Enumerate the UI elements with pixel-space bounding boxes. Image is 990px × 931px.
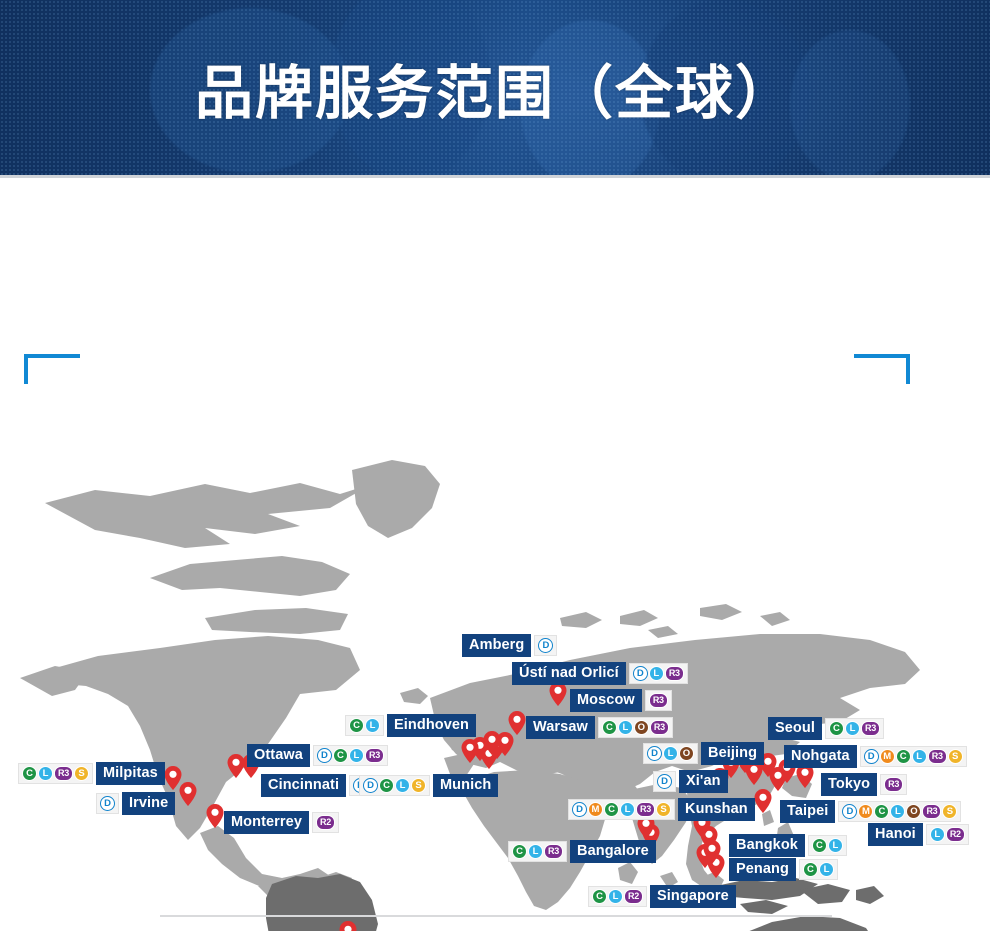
service-badge-l-icon: L bbox=[395, 778, 410, 793]
city-name: Penang bbox=[729, 858, 796, 881]
service-badge-o-icon: O bbox=[679, 746, 694, 761]
city-label-singapore[interactable]: CLR2Singapore bbox=[588, 885, 736, 908]
service-badge-group: DMCLOR3S bbox=[838, 801, 961, 822]
service-badge-group: R3 bbox=[645, 690, 672, 711]
service-badge-r3-icon: R3 bbox=[649, 693, 668, 708]
map-pin-marker[interactable] bbox=[704, 840, 721, 864]
bracket-line-horizontal bbox=[854, 354, 910, 358]
service-badge-l-icon: L bbox=[38, 766, 53, 781]
service-badge-c-icon: C bbox=[592, 889, 607, 904]
city-label-taipei[interactable]: TaipeiDMCLOR3S bbox=[780, 800, 961, 823]
service-badge-r3-icon: R3 bbox=[54, 766, 73, 781]
service-badge-group: R3 bbox=[880, 774, 907, 795]
service-badge-d-icon: D bbox=[657, 774, 672, 789]
service-badge-l-icon: L bbox=[912, 749, 927, 764]
city-label-hanoi[interactable]: HanoiLR2 bbox=[868, 823, 969, 846]
city-name: Seoul bbox=[768, 717, 822, 740]
service-badge-c-icon: C bbox=[829, 721, 844, 736]
map-stage: CLR3SMilpitasDIrvineMonterreyR2OttawaDCL… bbox=[0, 178, 990, 931]
service-badge-s-icon: S bbox=[656, 802, 671, 817]
city-label-munich[interactable]: DCLSMunich bbox=[359, 774, 498, 797]
service-badge-group: LR2 bbox=[926, 824, 969, 845]
city-name: Xi'an bbox=[679, 770, 728, 793]
map-pin-monterrey[interactable] bbox=[207, 804, 224, 828]
service-badge-c-icon: C bbox=[22, 766, 37, 781]
map-pin-warsaw[interactable] bbox=[509, 711, 526, 735]
city-label--st-nad-orlic-[interactable]: Ústí nad OrlicíDLR3 bbox=[512, 662, 688, 685]
map-pin-moscow[interactable] bbox=[550, 682, 567, 706]
bottom-divider bbox=[160, 915, 832, 917]
map-pin-marker[interactable] bbox=[462, 739, 479, 763]
city-label-seoul[interactable]: SeoulCLR3 bbox=[768, 717, 884, 740]
service-badge-l-icon: L bbox=[620, 802, 635, 817]
city-name: Kunshan bbox=[678, 798, 755, 821]
service-badge-c-icon: C bbox=[512, 844, 527, 859]
city-name: Eindhoven bbox=[387, 714, 476, 737]
city-name: Amberg bbox=[462, 634, 531, 657]
service-badge-s-icon: S bbox=[411, 778, 426, 793]
service-badge-group: R2 bbox=[312, 812, 339, 833]
city-name: Beijing bbox=[701, 742, 764, 765]
service-badge-c-icon: C bbox=[803, 862, 818, 877]
city-name: Hanoi bbox=[868, 823, 923, 846]
city-label-penang[interactable]: PenangCL bbox=[729, 858, 838, 881]
city-label-eindhoven[interactable]: CLEindhoven bbox=[345, 714, 476, 737]
bracket-line-vertical bbox=[24, 354, 28, 384]
service-badge-r2-icon: R2 bbox=[624, 889, 643, 904]
service-badge-l-icon: L bbox=[828, 838, 843, 853]
service-badge-l-icon: L bbox=[845, 721, 860, 736]
service-badge-d-icon: D bbox=[842, 804, 857, 819]
service-badge-group: DLR3 bbox=[629, 663, 688, 684]
service-badge-s-icon: S bbox=[948, 749, 963, 764]
city-label-amberg[interactable]: AmbergD bbox=[462, 634, 557, 657]
service-badge-l-icon: L bbox=[819, 862, 834, 877]
service-badge-group: D bbox=[653, 771, 676, 792]
service-badge-group: CLR2 bbox=[588, 886, 647, 907]
service-badge-o-icon: O bbox=[906, 804, 921, 819]
service-badge-d-icon: D bbox=[363, 778, 378, 793]
service-badge-l-icon: L bbox=[365, 718, 380, 733]
service-badge-d-icon: D bbox=[538, 638, 553, 653]
service-badge-l-icon: L bbox=[608, 889, 623, 904]
city-name: Bangkok bbox=[729, 834, 805, 857]
map-pin-marker[interactable] bbox=[770, 767, 787, 791]
service-badge-r3-icon: R3 bbox=[884, 777, 903, 792]
service-badge-group: CLR3 bbox=[508, 841, 567, 862]
city-label-tokyo[interactable]: TokyoR3 bbox=[821, 773, 907, 796]
city-label-irvine[interactable]: DIrvine bbox=[96, 792, 175, 815]
service-badge-m-icon: M bbox=[588, 802, 603, 817]
service-badge-group: DLO bbox=[643, 743, 698, 764]
service-badge-s-icon: S bbox=[942, 804, 957, 819]
city-name: Tokyo bbox=[821, 773, 877, 796]
city-label-xi-an[interactable]: DXi'an bbox=[653, 770, 728, 793]
service-badge-l-icon: L bbox=[528, 844, 543, 859]
service-badge-r2-icon: R2 bbox=[316, 815, 335, 830]
service-badge-l-icon: L bbox=[618, 720, 633, 735]
city-name: Nohgata bbox=[784, 745, 857, 768]
service-badge-r3-icon: R3 bbox=[922, 804, 941, 819]
service-badge-group: CLOR3 bbox=[598, 717, 673, 738]
service-badge-c-icon: C bbox=[874, 804, 889, 819]
city-name: Ottawa bbox=[247, 744, 310, 767]
city-name: Singapore bbox=[650, 885, 736, 908]
service-badge-group: DCLR3 bbox=[313, 745, 388, 766]
city-name: Warsaw bbox=[526, 716, 595, 739]
city-name: Milpitas bbox=[96, 762, 165, 785]
service-badge-l-icon: L bbox=[890, 804, 905, 819]
service-badge-o-icon: O bbox=[634, 720, 649, 735]
service-badge-r2-icon: R2 bbox=[946, 827, 965, 842]
service-badge-l-icon: L bbox=[349, 748, 364, 763]
map-pin-marker[interactable] bbox=[484, 731, 501, 755]
service-badge-r3-icon: R3 bbox=[365, 748, 384, 763]
service-badge-c-icon: C bbox=[896, 749, 911, 764]
service-badge-r3-icon: R3 bbox=[544, 844, 563, 859]
service-badge-d-icon: D bbox=[572, 802, 587, 817]
service-badge-l-icon: L bbox=[663, 746, 678, 761]
service-badge-m-icon: M bbox=[880, 749, 895, 764]
service-badge-group: CLR3S bbox=[18, 763, 93, 784]
city-label-moscow[interactable]: MoscowR3 bbox=[570, 689, 672, 712]
city-label-warsaw[interactable]: WarsawCLOR3 bbox=[526, 716, 673, 739]
service-badge-d-icon: D bbox=[647, 746, 662, 761]
service-badge-group: DCLS bbox=[359, 775, 430, 796]
city-name: Cincinnati bbox=[261, 774, 346, 797]
service-badge-group: CLR3 bbox=[825, 718, 884, 739]
city-label-nohgata[interactable]: NohgataDMCLR3S bbox=[784, 745, 967, 768]
city-label-kunshan[interactable]: DMCLR3SKunshan bbox=[568, 798, 755, 821]
service-badge-s-icon: S bbox=[74, 766, 89, 781]
page-title: 品牌服务范围（全球） bbox=[0, 0, 990, 175]
service-badge-r3-icon: R3 bbox=[928, 749, 947, 764]
service-badge-c-icon: C bbox=[349, 718, 364, 733]
service-badge-group: DMCLR3S bbox=[568, 799, 675, 820]
service-badge-c-icon: C bbox=[812, 838, 827, 853]
service-badge-group: DMCLR3S bbox=[860, 746, 967, 767]
service-badge-group: CL bbox=[799, 859, 838, 880]
service-badge-l-icon: L bbox=[930, 827, 945, 842]
bracket-line-vertical bbox=[906, 354, 910, 384]
service-badge-group: D bbox=[96, 793, 119, 814]
city-label-cincinnati[interactable]: CincinnatiD bbox=[261, 774, 372, 797]
service-badge-l-icon: L bbox=[649, 666, 664, 681]
city-label-bangkok[interactable]: BangkokCL bbox=[729, 834, 847, 857]
service-badge-d-icon: D bbox=[317, 748, 332, 763]
city-label-ottawa[interactable]: OttawaDCLR3 bbox=[247, 744, 388, 767]
service-badge-r3-icon: R3 bbox=[650, 720, 669, 735]
service-badge-c-icon: C bbox=[333, 748, 348, 763]
bracket-line-horizontal bbox=[24, 354, 80, 358]
city-label-milpitas[interactable]: CLR3SMilpitas bbox=[18, 762, 165, 785]
city-name: Monterrey bbox=[224, 811, 309, 834]
city-name: Bangalore bbox=[570, 840, 656, 863]
city-name: Munich bbox=[433, 774, 498, 797]
city-label-beijing[interactable]: DLOBeijing bbox=[643, 742, 764, 765]
service-badge-c-icon: C bbox=[602, 720, 617, 735]
service-badge-group: D bbox=[534, 635, 557, 656]
service-badge-c-icon: C bbox=[604, 802, 619, 817]
city-name: Irvine bbox=[122, 792, 175, 815]
service-badge-d-icon: D bbox=[633, 666, 648, 681]
service-badge-d-icon: D bbox=[864, 749, 879, 764]
city-name: Taipei bbox=[780, 800, 835, 823]
service-badge-m-icon: M bbox=[858, 804, 873, 819]
map-pin-taipei[interactable] bbox=[755, 789, 772, 813]
city-name: Moscow bbox=[570, 689, 642, 712]
city-name: Ústí nad Orlicí bbox=[512, 662, 626, 685]
map-pin-irvine[interactable] bbox=[180, 782, 197, 806]
service-badge-group: CL bbox=[345, 715, 384, 736]
city-label-monterrey[interactable]: MonterreyR2 bbox=[224, 811, 339, 834]
service-badge-group: CL bbox=[808, 835, 847, 856]
service-badge-c-icon: C bbox=[379, 778, 394, 793]
service-badge-r3-icon: R3 bbox=[636, 802, 655, 817]
service-badge-d-icon: D bbox=[100, 796, 115, 811]
service-badge-r3-icon: R3 bbox=[665, 666, 684, 681]
header-banner: 品牌服务范围（全球） bbox=[0, 0, 990, 175]
page-root: 品牌服务范围（全球） bbox=[0, 0, 990, 931]
map-pin-itajub-[interactable] bbox=[340, 921, 357, 931]
city-label-bangalore[interactable]: CLR3Bangalore bbox=[508, 840, 656, 863]
service-badge-r3-icon: R3 bbox=[861, 721, 880, 736]
